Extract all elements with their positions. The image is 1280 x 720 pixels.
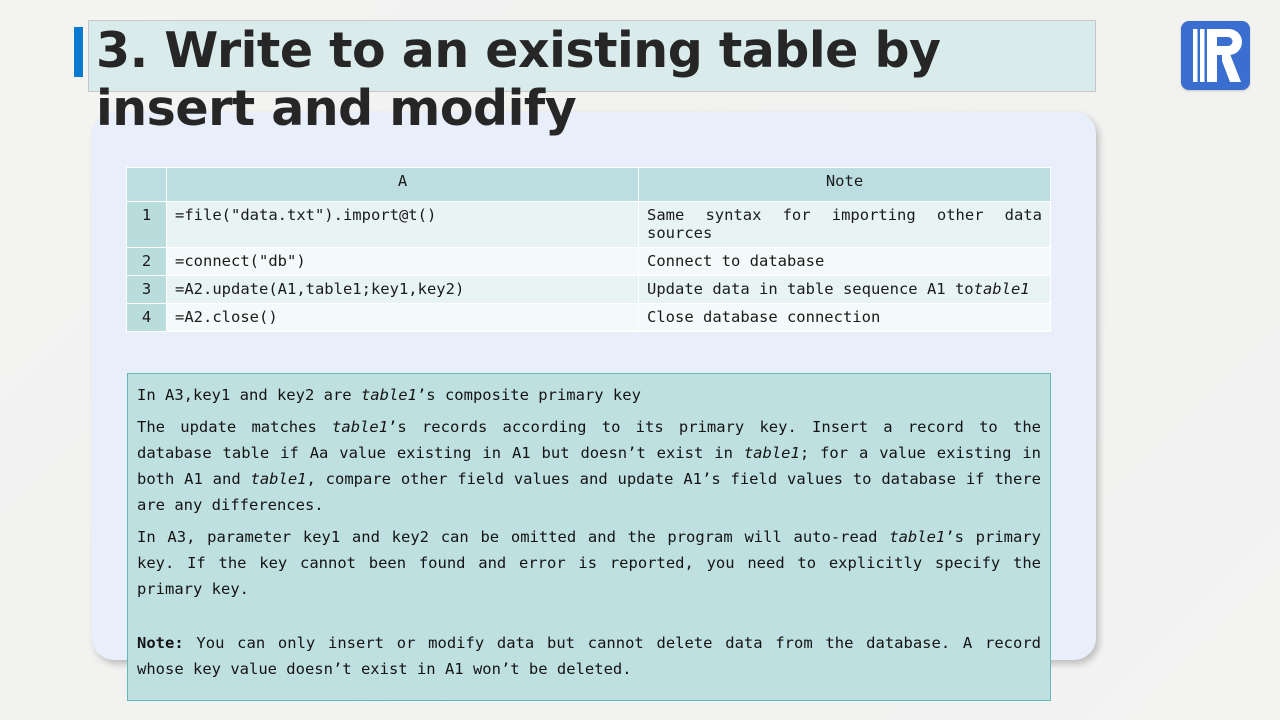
code-table: A Note 1 =file("data.txt").import@t() Sa… — [126, 167, 1051, 332]
raqsoft-logo-icon — [1181, 21, 1250, 90]
note-paragraph-3: In A3, parameter key1 and key2 can be om… — [137, 524, 1041, 602]
note-p2-italic-3: table1 — [251, 470, 307, 488]
table-row: 3 =A2.update(A1,table1;key1,key2) Update… — [127, 276, 1051, 304]
note-paragraph-4: Note: You can only insert or modify data… — [137, 630, 1041, 682]
note-text: Connect to database — [647, 252, 824, 270]
table-row: 1 =file("data.txt").import@t() Same synt… — [127, 202, 1051, 248]
cell-note: Update data in table sequence A1 totable… — [639, 276, 1051, 304]
note-text: Same syntax for importing other data sou… — [647, 206, 1042, 242]
note-text: Update data in table sequence A1 to — [647, 280, 974, 298]
header-cell-note: Note — [639, 168, 1051, 202]
note-text: Close database connection — [647, 308, 880, 326]
slide-canvas: 3. Write to an existing table by insert … — [0, 0, 1280, 720]
table-row: 2 =connect("db") Connect to database — [127, 248, 1051, 276]
header-cell-a: A — [167, 168, 639, 202]
note-p3-italic: table1 — [889, 528, 945, 546]
table-row: 4 =A2.close() Close database connection — [127, 304, 1051, 332]
page-title: 3. Write to an existing table by insert … — [96, 22, 1096, 138]
row-index-cell: 3 — [127, 276, 167, 304]
title-accent-bar — [74, 27, 83, 77]
note-p1-text-b: ’s composite primary key — [417, 386, 641, 404]
note-p1-italic: table1 — [361, 386, 417, 404]
note-paragraph-1: In A3,key1 and key2 are table1’s composi… — [137, 382, 1041, 408]
note-p1-text-a: In A3,key1 and key2 are — [137, 386, 361, 404]
header-cell-corner — [127, 168, 167, 202]
note-p2-italic-1: table1 — [332, 418, 388, 436]
note-spacer — [137, 608, 1041, 630]
cell-a: =file("data.txt").import@t() — [167, 202, 639, 248]
note-paragraph-2: The update matches table1’s records acco… — [137, 414, 1041, 518]
row-index-cell: 4 — [127, 304, 167, 332]
cell-a: =A2.update(A1,table1;key1,key2) — [167, 276, 639, 304]
note-p4-text: You can only insert or modify data but c… — [137, 634, 1041, 678]
row-index-cell: 1 — [127, 202, 167, 248]
row-index-cell: 2 — [127, 248, 167, 276]
note-p2-text-a: The update matches — [137, 418, 332, 436]
note-label: Note: — [137, 634, 184, 652]
note-italic: table1 — [974, 280, 1030, 298]
cell-a: =connect("db") — [167, 248, 639, 276]
note-p2-italic-2: table1 — [744, 444, 800, 462]
note-p3-text-a: In A3, parameter key1 and key2 can be om… — [137, 528, 889, 546]
explanation-note-box: In A3,key1 and key2 are table1’s composi… — [127, 373, 1051, 701]
cell-note: Same syntax for importing other data sou… — [639, 202, 1051, 248]
cell-a: =A2.close() — [167, 304, 639, 332]
cell-note: Connect to database — [639, 248, 1051, 276]
table-header-row: A Note — [127, 168, 1051, 202]
cell-note: Close database connection — [639, 304, 1051, 332]
